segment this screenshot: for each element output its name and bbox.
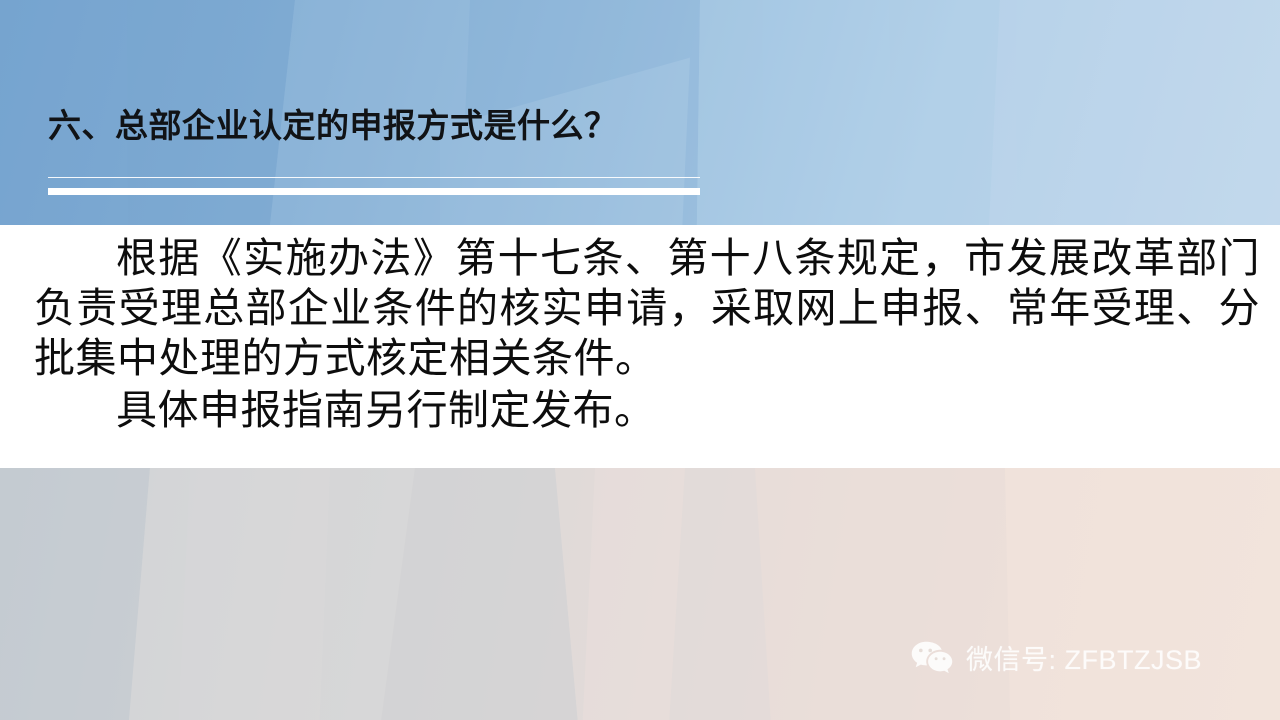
wechat-watermark: 微信号: ZFBTZJSB [910,638,1202,677]
body-paragraph-1: 根据《实施办法》第十七条、第十八条规定，市发展改革部门负责受理总部企业条件的核实… [34,233,1260,383]
footer-band-polygons [0,468,1280,720]
body-text-block: 根据《实施办法》第十七条、第十八条规定，市发展改革部门负责受理总部企业条件的核实… [34,233,1260,435]
content-panel: 根据《实施办法》第十七条、第十八条规定，市发展改革部门负责受理总部企业条件的核实… [0,225,1280,468]
body-paragraph-2: 具体申报指南另行制定发布。 [34,385,1260,435]
presentation-slide: 六、总部企业认定的申报方式是什么？ 根据《实施办法》第十七条、第十八条规定，市发… [0,0,1280,720]
wechat-id-label: 微信号: ZFBTZJSB [966,638,1202,677]
page-title: 六、总部企业认定的申报方式是什么？ [48,108,618,144]
title-divider-thin [48,177,700,178]
slide-header-band: 六、总部企业认定的申报方式是什么？ [0,0,1280,225]
slide-footer-band [0,468,1280,720]
title-divider-thick [48,188,700,195]
wechat-icon [910,640,954,676]
